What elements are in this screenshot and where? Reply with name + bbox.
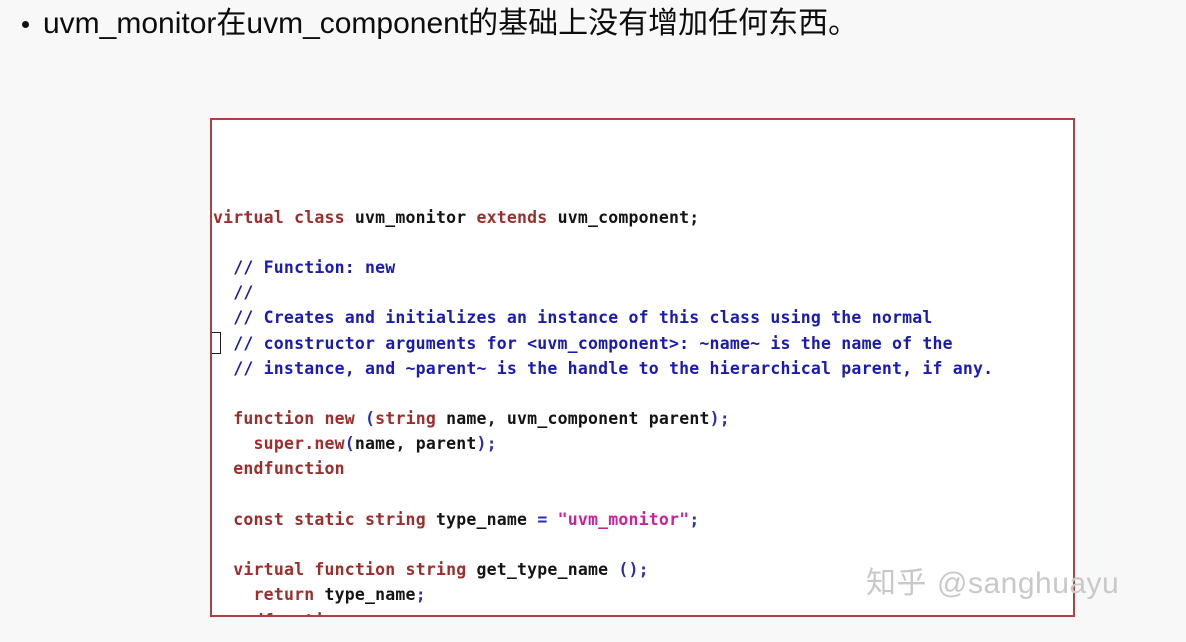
code-token: uvm_monitor [355, 208, 477, 227]
slide-bullet-heading: uvm_monitor在uvm_component的基础上没有增加任何东西。 [22, 4, 858, 44]
code-line: // Function: new [212, 255, 1073, 280]
code-token: name, parent [355, 434, 477, 453]
code-token: ); [710, 409, 730, 428]
code-token [213, 409, 233, 428]
code-token: // Creates and initializes an instance o… [213, 308, 933, 327]
code-token: super.new [254, 434, 345, 453]
code-line: // [212, 280, 1073, 305]
code-line: virtual class uvm_monitor extends uvm_co… [212, 205, 1073, 230]
code-line: return type_name; [212, 582, 1073, 607]
code-token: get_type_name [477, 560, 619, 579]
code-token: function new [233, 409, 365, 428]
code-token: endfunction [233, 459, 344, 478]
code-token: // instance, and ~parent~ is the handle … [213, 359, 993, 378]
code-token: uvm_component; [558, 208, 700, 227]
code-token: virtual class [213, 208, 355, 227]
code-line: // instance, and ~parent~ is the handle … [212, 356, 1073, 381]
code-token: ; [689, 510, 699, 529]
code-token: name, uvm_component parent [446, 409, 709, 428]
code-line [212, 482, 1073, 507]
code-block: virtual class uvm_monitor extends uvm_co… [210, 118, 1075, 617]
code-token: = [537, 510, 557, 529]
code-cursor-marker [211, 332, 221, 354]
code-token: (); [618, 560, 648, 579]
code-token: "uvm_monitor" [558, 510, 690, 529]
code-line [212, 381, 1073, 406]
code-token: return [254, 585, 325, 604]
code-line: endfunction [212, 608, 1073, 617]
code-token [213, 510, 233, 529]
code-token: // Function: new [213, 258, 395, 277]
code-token [213, 585, 254, 604]
code-line [212, 230, 1073, 255]
code-token: // constructor arguments for <uvm_compon… [213, 334, 953, 353]
code-token: ; [416, 585, 426, 604]
code-token [213, 560, 233, 579]
code-token: type_name [324, 585, 415, 604]
bullet-point-icon [22, 21, 29, 28]
code-line: const static string type_name = "uvm_mon… [212, 507, 1073, 532]
code-token: string [375, 409, 446, 428]
code-line: // constructor arguments for <uvm_compon… [212, 331, 1073, 356]
code-token: const static string [233, 510, 436, 529]
code-token: virtual function string [233, 560, 476, 579]
code-line: super.new(name, parent); [212, 431, 1073, 456]
code-token: ); [477, 434, 497, 453]
page-title: uvm_monitor在uvm_component的基础上没有增加任何东西。 [43, 4, 858, 44]
code-listing[interactable]: virtual class uvm_monitor extends uvm_co… [212, 120, 1073, 617]
code-line [212, 532, 1073, 557]
code-line: function new (string name, uvm_component… [212, 406, 1073, 431]
code-line: virtual function string get_type_name ()… [212, 557, 1073, 582]
code-token: ( [365, 409, 375, 428]
code-token: // [213, 283, 254, 302]
code-line: endfunction [212, 456, 1073, 481]
code-token [213, 611, 233, 617]
code-token: ( [345, 434, 355, 453]
code-line: // Creates and initializes an instance o… [212, 305, 1073, 330]
code-token: extends [476, 208, 557, 227]
code-token: endfunction [233, 611, 344, 617]
code-token [213, 434, 254, 453]
code-token: type_name [436, 510, 537, 529]
code-token [213, 459, 233, 478]
